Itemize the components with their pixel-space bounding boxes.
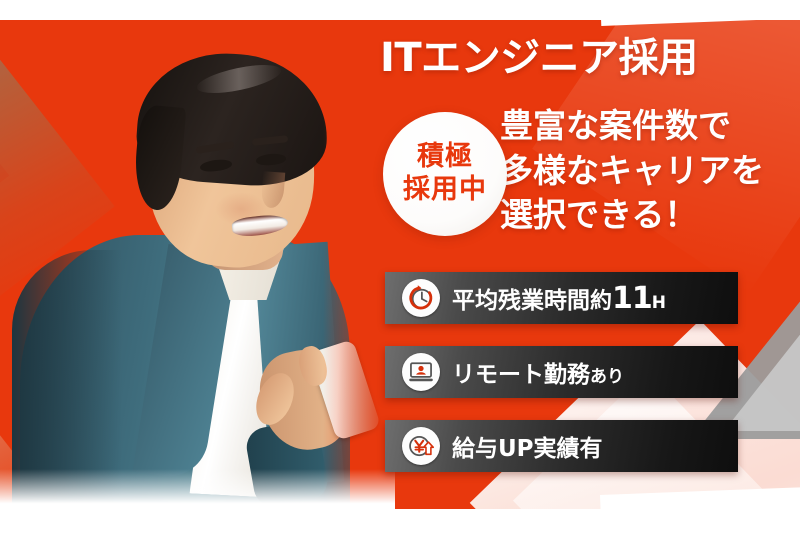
remote-label: リモート勤務	[452, 362, 590, 388]
remote-work-monitor-icon	[402, 353, 440, 391]
feature-bar-salary: 給与UP実績有	[385, 420, 738, 472]
overtime-approx: 約	[590, 289, 612, 314]
feature-bar-salary-text: 給与UP実績有	[452, 429, 603, 463]
feature-bar-remote-text: リモート勤務あり	[452, 355, 624, 389]
feature-bar-overtime: 平均残業時間約11H	[385, 272, 738, 324]
overtime-unit: H	[652, 293, 666, 313]
salary-label: 給与UP実績有	[452, 436, 603, 462]
yen-up-arrow-icon	[402, 427, 440, 465]
bottom-white-diagonal	[600, 487, 800, 533]
remote-suffix: あり	[590, 367, 624, 387]
businessman-photo	[0, 20, 395, 509]
badge-line-2: 採用中	[403, 174, 487, 207]
feature-bar-remote: リモート勤務あり	[385, 346, 738, 398]
subtitle-line-2: 多様なキャリアを	[500, 149, 764, 194]
status-badge: 積極 採用中	[383, 112, 507, 236]
feature-bar-overtime-text: 平均残業時間約11H	[452, 281, 666, 316]
overtime-label: 平均残業時間	[452, 288, 590, 314]
stopwatch-icon	[402, 279, 440, 317]
badge-line-1: 積極	[417, 141, 473, 174]
subtitle-line-3: 選択できる！	[500, 193, 764, 238]
subtitle-block: 豊富な案件数で 多様なキャリアを 選択できる！	[500, 104, 764, 238]
overtime-number: 11	[612, 281, 652, 316]
page-title: ITエンジニア採用	[380, 36, 780, 81]
photo-fade-bottom	[0, 469, 395, 509]
recruitment-banner: ITエンジニア採用 豊富な案件数で 多様なキャリアを 選択できる！ 積極 採用中…	[0, 0, 800, 533]
feature-bar-list: 平均残業時間約11H リモート勤務あり	[385, 272, 738, 494]
photo-composition	[0, 20, 395, 509]
subtitle-line-1: 豊富な案件数で	[500, 104, 764, 149]
